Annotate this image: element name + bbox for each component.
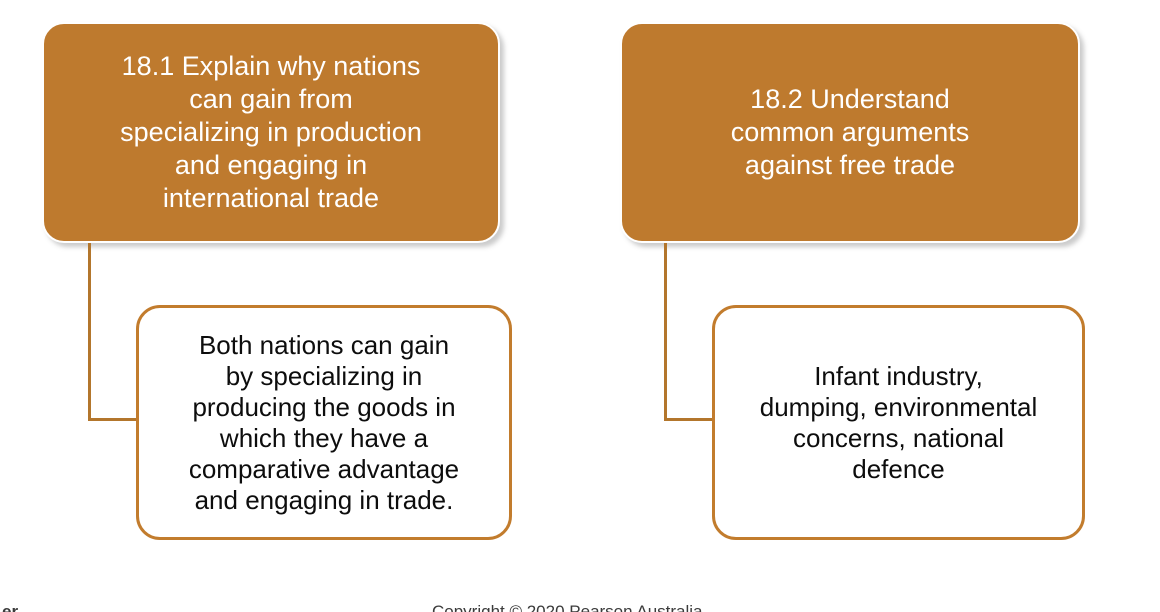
objective-label-18-2: 18.2 Understand common arguments against… bbox=[731, 83, 970, 182]
connector-horizontal-segment bbox=[664, 418, 716, 421]
answer-label-18-1: Both nations can gain by specializing in… bbox=[189, 330, 459, 516]
footer-clipped-strip: er Copyright © 2020 Pearson Australia bbox=[0, 603, 1160, 612]
objective-box-18-2: 18.2 Understand common arguments against… bbox=[620, 22, 1080, 243]
answer-label-18-2: Infant industry, dumping, environmental … bbox=[760, 361, 1038, 485]
connector-vertical-segment bbox=[664, 243, 667, 421]
footer-center-text: Copyright © 2020 Pearson Australia bbox=[432, 603, 703, 612]
slide-canvas: 18.1 Explain why nations can gain from s… bbox=[0, 0, 1160, 612]
answer-box-18-1: Both nations can gain by specializing in… bbox=[136, 305, 512, 540]
connector-elbow-2 bbox=[664, 243, 716, 423]
answer-box-18-2: Infant industry, dumping, environmental … bbox=[712, 305, 1085, 540]
footer-left-text: er bbox=[2, 603, 18, 612]
objective-box-18-1: 18.1 Explain why nations can gain from s… bbox=[42, 22, 500, 243]
connector-vertical-segment bbox=[88, 243, 91, 421]
connector-elbow-1 bbox=[88, 243, 140, 423]
connector-horizontal-segment bbox=[88, 418, 140, 421]
objective-label-18-1: 18.1 Explain why nations can gain from s… bbox=[120, 50, 422, 215]
